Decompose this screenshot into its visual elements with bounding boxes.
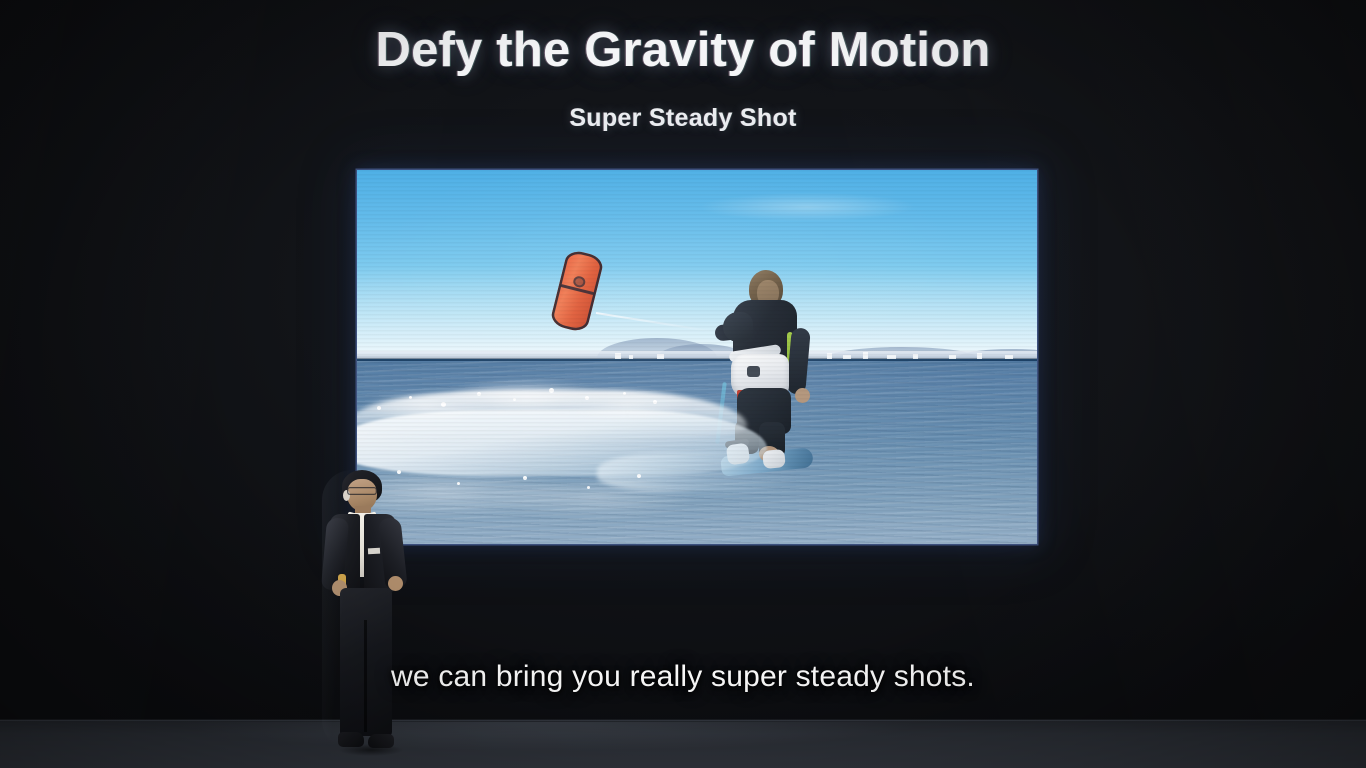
cloud-wisp — [657, 186, 957, 228]
presenter-shoe-right — [368, 734, 394, 748]
presenter-hand-right — [388, 576, 403, 591]
presentation-stage: Defy the Gravity of Motion Super Steady … — [0, 0, 1366, 768]
video-panel[interactable] — [357, 170, 1037, 544]
presenter-pocket-square — [368, 548, 380, 555]
presenter-shoe-left — [338, 732, 364, 747]
slide-title: Defy the Gravity of Motion — [0, 22, 1366, 78]
slide-subtitle: Super Steady Shot — [0, 104, 1366, 133]
presenter-figure — [316, 470, 428, 762]
glasses-icon — [347, 487, 377, 495]
stage-floor — [0, 721, 1366, 768]
video-caption: we can bring you really super steady sho… — [0, 660, 1366, 694]
